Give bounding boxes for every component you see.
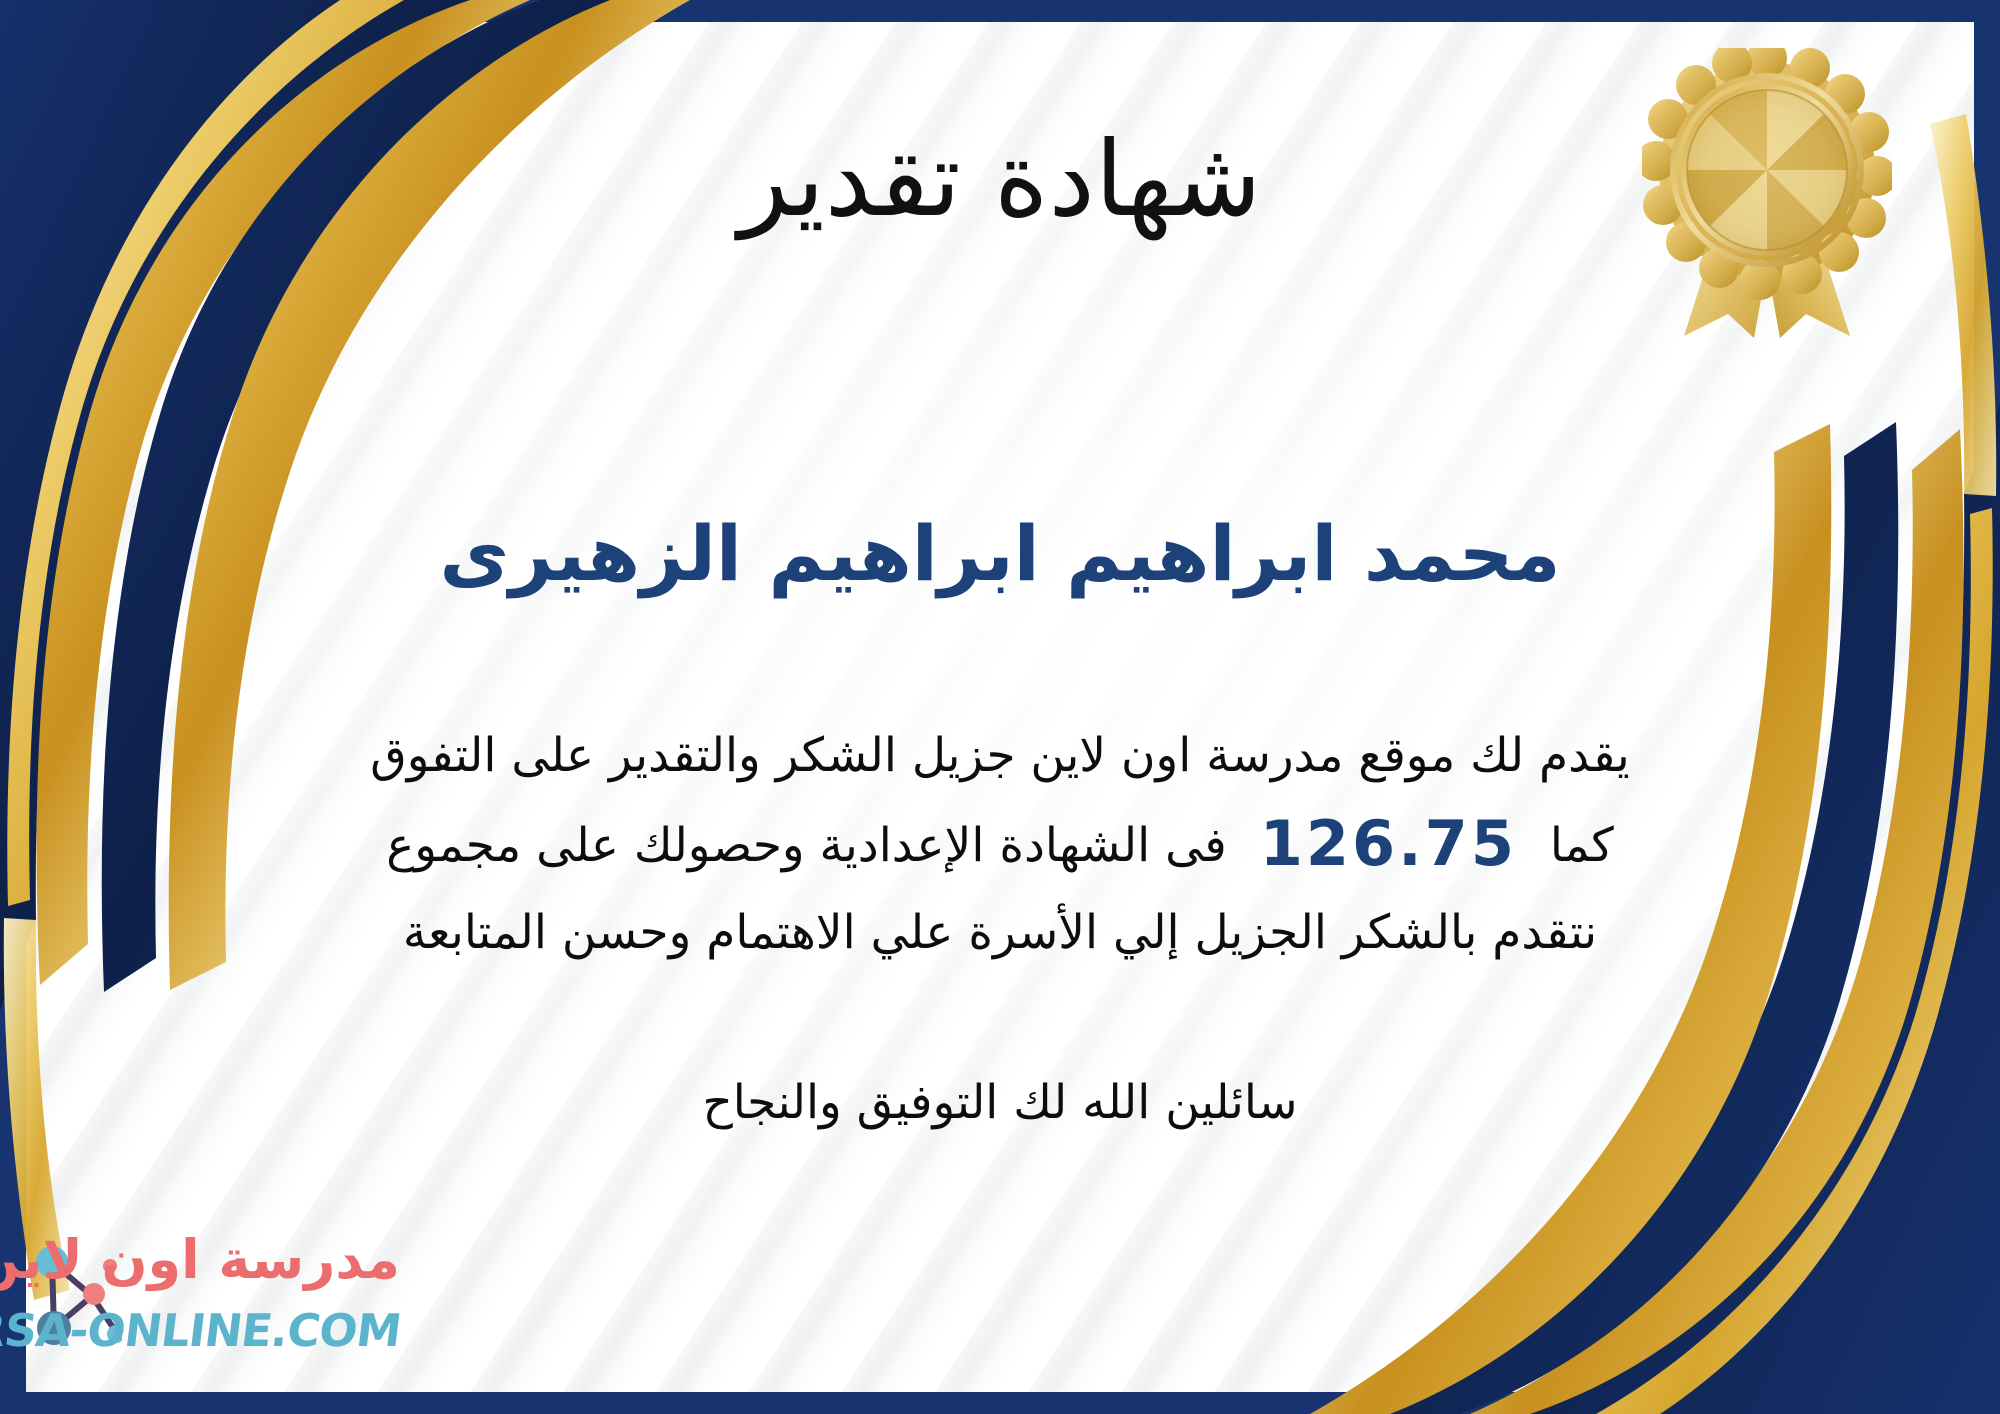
gold-medal-badge [1642, 48, 1892, 338]
total-score-value: 126.75 [1242, 794, 1535, 894]
closing-wish-text: سائلين الله لك التوفيق والنجاح [0, 1075, 2000, 1130]
body-line-2-prefix: فى الشهادة الإعدادية وحصولك على مجموع [386, 818, 1227, 873]
gold-medal-ribbon-icon [1642, 48, 1892, 338]
body-line-1: يقدم لك موقع مدرسة اون لاين جزيل الشكر و… [60, 718, 1940, 794]
recipient-name: محمد ابراهيم ابراهيم الزهيرى [0, 508, 2000, 599]
body-line-2: كما 126.75 فى الشهادة الإعدادية وحصولك ع… [60, 794, 1940, 894]
body-line-3: نتقدم بالشكر الجزيل إلي الأسرة علي الاهت… [60, 895, 1940, 971]
certificate-body-text: يقدم لك موقع مدرسة اون لاين جزيل الشكر و… [60, 718, 1940, 971]
logo-arabic-name: مدرسة اون لاين [0, 1228, 400, 1291]
logo-website-url: MADRSA-ONLINE.COM [0, 1304, 403, 1357]
body-line-2-suffix: كما [1550, 818, 1614, 873]
brand-logo[interactable]: مدرسة اون لاين MADRSA-ONLINE.COM [22, 1222, 492, 1392]
certificate-page: شهادة تقدير محمد ابراهيم ابراهيم الزهيرى… [0, 0, 2000, 1414]
